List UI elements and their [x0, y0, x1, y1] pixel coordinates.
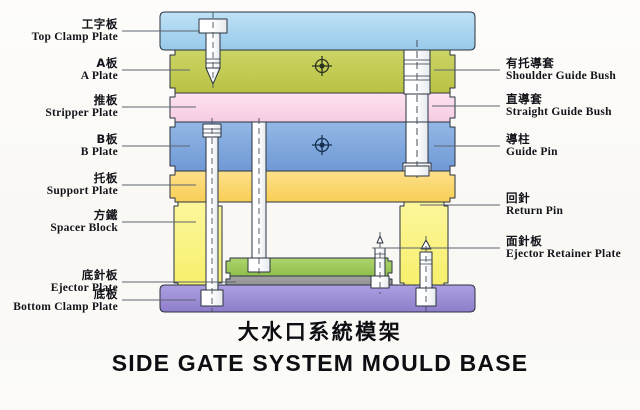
label-cn: 底針板 — [0, 269, 118, 282]
label-cn: 回針 — [506, 192, 563, 205]
title-english: SIDE GATE SYSTEM MOULD BASE — [0, 350, 640, 377]
label-en: Bottom Clamp Plate — [0, 301, 118, 314]
label-en: Guide Pin — [506, 146, 558, 159]
label-en: Straight Guide Bush — [506, 106, 612, 119]
label-top-clamp-plate: 工字板 Top Clamp Plate — [0, 18, 118, 44]
label-cn: 面針板 — [506, 235, 621, 248]
label-cn: 工字板 — [0, 18, 118, 31]
label-b-plate: B板 B Plate — [0, 133, 118, 159]
label-en: B Plate — [0, 146, 118, 159]
label-ejector-retainer-plate: 面針板 Ejector Retainer Plate — [506, 235, 621, 261]
label-cn: 導柱 — [506, 133, 558, 146]
guide-bush-support — [405, 166, 429, 176]
label-cn: 有托導套 — [506, 57, 616, 70]
diagram-title: 大水口系統模架 SIDE GATE SYSTEM MOULD BASE — [0, 316, 640, 377]
label-cn: 推板 — [0, 94, 118, 107]
label-spacer-block: 方鐵 Spacer Block — [0, 209, 118, 235]
label-cn: 托板 — [0, 172, 118, 185]
label-cn: A板 — [0, 57, 118, 70]
label-en: Return Pin — [506, 205, 563, 218]
label-en: Support Plate — [0, 185, 118, 198]
label-en: Shoulder Guide Bush — [506, 70, 616, 83]
label-cn: B板 — [0, 133, 118, 146]
label-en: Spacer Block — [0, 222, 118, 235]
label-cn: 直導套 — [506, 93, 612, 106]
label-return-pin: 回針 Return Pin — [506, 192, 563, 218]
label-support-plate: 托板 Support Plate — [0, 172, 118, 198]
label-bottom-clamp-plate: 底板 Bottom Clamp Plate — [0, 288, 118, 314]
title-chinese: 大水口系統模架 — [0, 316, 640, 346]
label-stripper-plate: 推板 Stripper Plate — [0, 94, 118, 120]
label-en: Top Clamp Plate — [0, 31, 118, 44]
label-straight-guide-bush: 直導套 Straight Guide Bush — [506, 93, 612, 119]
label-shoulder-guide-bush: 有托導套 Shoulder Guide Bush — [506, 57, 616, 83]
label-guide-pin: 導柱 Guide Pin — [506, 133, 558, 159]
label-en: Ejector Retainer Plate — [506, 248, 621, 261]
label-a-plate: A板 A Plate — [0, 57, 118, 83]
label-cn: 底板 — [0, 288, 118, 301]
label-en: Stripper Plate — [0, 107, 118, 120]
label-en: A Plate — [0, 70, 118, 83]
diagram-canvas: 工字板 Top Clamp Plate A板 A Plate 推板 Stripp… — [0, 0, 640, 410]
label-cn: 方鐵 — [0, 209, 118, 222]
